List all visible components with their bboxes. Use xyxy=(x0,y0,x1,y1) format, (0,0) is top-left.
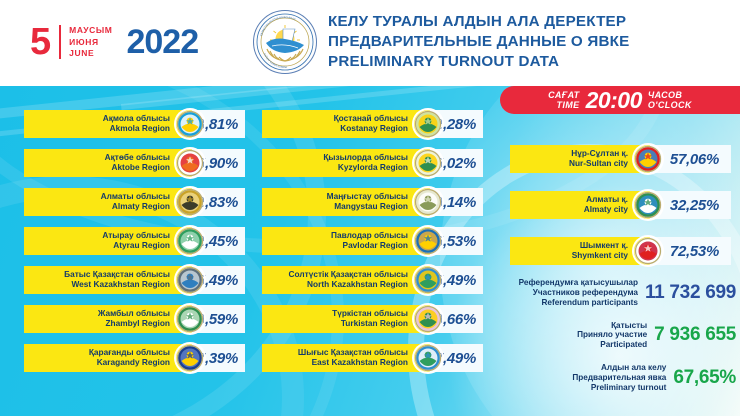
region-name-en: Atyrau Region xyxy=(113,241,170,251)
page-title-ru: ПРЕДВАРИТЕЛЬНЫЕ ДАННЫЕ О ЯВКЕ xyxy=(328,32,629,52)
region-row[interactable]: 72,53%Шымкент қ.Shymkent city xyxy=(510,237,731,265)
summary-row: Референдумға қатысушыларУчастников рефер… xyxy=(500,278,736,308)
region-row[interactable]: 75,02%Қызылорда облысыKyzylorda Region xyxy=(262,149,483,177)
region-name-en: East Kazakhstan Region xyxy=(312,358,408,368)
page-title-en: PRELIMINARY TURNOUT DATA xyxy=(328,52,629,72)
region-name: Маңғыстау облысыMangystau Region xyxy=(262,188,408,216)
summary-label-kk: Алдын ала келу xyxy=(601,363,666,373)
region-name: Батыс Қазақстан облысыWest Kazakhstan Re… xyxy=(24,266,170,294)
region-name-en: Almaty city xyxy=(584,205,628,215)
date-divider xyxy=(59,25,61,59)
region-name-en: Turkistan Region xyxy=(341,319,408,329)
shymkent-city-emblem-icon xyxy=(634,237,662,265)
summary-statistics: Референдумға қатысушыларУчастников рефер… xyxy=(500,278,736,406)
region-row[interactable]: 62,45%Атырау облысыAtyrau Region xyxy=(24,227,245,255)
summary-labels: ҚатыстыПриняло участиеParticipated xyxy=(577,321,647,351)
region-name: Қызылорда облысыKyzylorda Region xyxy=(262,149,408,177)
summary-label-ru: Предварительная явка xyxy=(572,373,666,383)
region-name: Алматы облысыAlmaty Region xyxy=(24,188,170,216)
karagandy-region-emblem-icon xyxy=(176,344,204,372)
region-row[interactable]: 72,83%Алматы облысыAlmaty Region xyxy=(24,188,245,216)
region-name: Қарағанды облысыKaragandy Region xyxy=(24,344,170,372)
time-value: 20:00 xyxy=(586,87,642,114)
north-kazakhstan-region-emblem-icon xyxy=(414,266,442,294)
row-value-panel: 32,25% xyxy=(650,191,731,219)
region-name: Нұр-Сұлтан қ.Nur-Sultan city xyxy=(510,145,628,173)
region-name: Солтүстік Қазақстан облысыNorth Kazakhst… xyxy=(262,266,408,294)
region-row[interactable]: 32,25%Алматы қ.Almaty city xyxy=(510,191,731,219)
region-name-en: North Kazakhstan Region xyxy=(307,280,408,290)
region-name-en: Shymkent city xyxy=(572,251,628,261)
region-row[interactable]: 75,49%Солтүстік Қазақстан облысыNorth Ka… xyxy=(262,266,483,294)
summary-label-ru: Участников референдума xyxy=(533,288,638,298)
cities-column-right: 57,06%Нұр-Сұлтан қ.Nur-Sultan city32,25%… xyxy=(510,145,731,283)
summary-labels: Референдумға қатысушыларУчастников рефер… xyxy=(519,278,638,308)
summary-label-en: Preliminary turnout xyxy=(591,383,667,393)
summary-label-ru: Приняло участие xyxy=(577,330,647,340)
row-value-panel: 72,53% xyxy=(650,237,731,265)
west-kazakhstan-region-emblem-icon xyxy=(176,266,204,294)
akmola-region-emblem-icon xyxy=(176,110,204,138)
date-month-en: JUNE xyxy=(69,48,112,59)
time-label-kk: САҒАТ xyxy=(548,90,579,100)
header-bar: 5 МАУСЫМ ИЮНЯ JUNE 2022 ҚАЗАҚСТАН РЕСПУБ… xyxy=(0,0,740,86)
page-title: КЕЛУ ТУРАЛЫ АЛДЫН АЛА ДЕРЕКТЕР ПРЕДВАРИТ… xyxy=(328,12,629,72)
date-year: 2022 xyxy=(126,25,198,59)
region-row[interactable]: 65,49%Батыс Қазақстан облысыWest Kazakhs… xyxy=(24,266,245,294)
region-row[interactable]: 75,53%Павлодар облысыPavlodar Region xyxy=(262,227,483,255)
summary-labels: Алдын ала келуПредварительная явкаPrelim… xyxy=(572,363,666,393)
regions-column-left: 73,81%Ақмола облысыAkmola Region55,90%Ақ… xyxy=(24,110,245,383)
time-label-en: TIME xyxy=(556,100,579,110)
page-title-kk: КЕЛУ ТУРАЛЫ АЛДЫН АЛА ДЕРЕКТЕР xyxy=(328,12,629,32)
time-suffix-en: O'CLOCK xyxy=(648,100,692,110)
summary-row: ҚатыстыПриняло участиеParticipated7 936 … xyxy=(500,321,736,351)
summary-value: 67,65% xyxy=(673,367,736,389)
turnout-percentage: 57,06% xyxy=(670,151,719,168)
region-name: Қостанай облысыKostanay Region xyxy=(262,110,408,138)
almaty-region-emblem-icon xyxy=(176,188,204,216)
time-banner-right-labels: ЧАСОВ O'CLOCK xyxy=(648,90,692,111)
summary-row: Алдын ала келуПредварительная явкаPrelim… xyxy=(500,363,736,393)
region-name: Ақмола облысыAkmola Region xyxy=(24,110,170,138)
region-row[interactable]: 72,28%Қостанай облысыKostanay Region xyxy=(262,110,483,138)
region-name: Алматы қ.Almaty city xyxy=(510,191,628,219)
summary-value: 7 936 655 xyxy=(654,324,736,346)
atyrau-region-emblem-icon xyxy=(176,227,204,255)
region-name: Павлодар облысыPavlodar Region xyxy=(262,227,408,255)
almaty-city-emblem-icon xyxy=(634,191,662,219)
kostanay-region-emblem-icon xyxy=(414,110,442,138)
date-badge: 5 МАУСЫМ ИЮНЯ JUNE 2022 xyxy=(30,20,198,64)
region-row[interactable]: 77,49%Шығыс Қазақстан облысыEast Kazakhs… xyxy=(262,344,483,372)
pavlodar-region-emblem-icon xyxy=(414,227,442,255)
summary-label-en: Referendum participants xyxy=(542,298,638,308)
region-name: Шығыс Қазақстан облысыEast Kazakhstan Re… xyxy=(262,344,408,372)
region-name-en: Mangystau Region xyxy=(334,202,408,212)
region-name-en: Karagandy Region xyxy=(97,358,170,368)
turnout-percentage: 32,25% xyxy=(670,197,719,214)
summary-label-kk: Қатысты xyxy=(611,321,647,331)
summary-value: 11 732 699 xyxy=(645,282,736,304)
nur-sultan-city-emblem-icon xyxy=(634,145,662,173)
region-name-en: Nur-Sultan city xyxy=(569,159,628,169)
time-banner-left-labels: САҒАТ TIME xyxy=(548,90,579,111)
turnout-percentage: 72,53% xyxy=(670,243,719,260)
aktobe-region-emblem-icon xyxy=(176,149,204,177)
poster-root: 5 МАУСЫМ ИЮНЯ JUNE 2022 ҚАЗАҚСТАН РЕСПУБ… xyxy=(0,0,740,416)
date-month-ru: ИЮНЯ xyxy=(69,37,112,48)
region-name-en: Kyzylorda Region xyxy=(338,163,408,173)
content-stage: САҒАТ TIME 20:00 ЧАСОВ O'CLOCK 73,81%Ақм… xyxy=(0,86,740,416)
date-day: 5 xyxy=(30,23,50,61)
region-row[interactable]: 57,06%Нұр-Сұлтан қ.Nur-Sultan city xyxy=(510,145,731,173)
region-name-en: Almaty Region xyxy=(112,202,170,212)
region-name-en: Akmola Region xyxy=(110,124,170,134)
turkistan-region-emblem-icon xyxy=(414,305,442,333)
region-name: Жамбыл облысыZhambyl Region xyxy=(24,305,170,333)
summary-label-en: Participated xyxy=(600,340,647,350)
region-name-en: Aktobe Region xyxy=(111,163,170,173)
row-value-panel: 57,06% xyxy=(650,145,731,173)
kyzylorda-region-emblem-icon xyxy=(414,149,442,177)
summary-label-kk: Референдумға қатысушылар xyxy=(519,278,638,288)
regions-column-middle: 72,28%Қостанай облысыKostanay Region75,0… xyxy=(262,110,483,383)
region-row[interactable]: 69,59%Жамбыл облысыZhambyl Region xyxy=(24,305,245,333)
date-month-labels: МАУСЫМ ИЮНЯ JUNE xyxy=(69,25,112,59)
mangystau-region-emblem-icon xyxy=(414,188,442,216)
region-row[interactable]: 55,90%Ақтөбе облысыAktobe Region xyxy=(24,149,245,177)
region-row[interactable]: 80,66%Түркістан облысыTurkistan Region xyxy=(262,305,483,333)
election-commission-emblem-icon: ҚАЗАҚСТАН РЕСПУБЛИКАСЫНЫҢ САЙЛАУ КОМИССИ… xyxy=(252,9,318,75)
region-name: Шымкент қ.Shymkent city xyxy=(510,237,628,265)
east-kazakhstan-region-emblem-icon xyxy=(414,344,442,372)
region-name: Ақтөбе облысыAktobe Region xyxy=(24,149,170,177)
region-name: Атырау облысыAtyrau Region xyxy=(24,227,170,255)
region-row[interactable]: 77,39%Қарағанды облысыKaragandy Region xyxy=(24,344,245,372)
region-row[interactable]: 59,14%Маңғыстау облысыMangystau Region xyxy=(262,188,483,216)
region-name-en: Kostanay Region xyxy=(340,124,408,134)
date-month-kk: МАУСЫМ xyxy=(69,25,112,36)
region-name: Түркістан облысыTurkistan Region xyxy=(262,305,408,333)
region-row[interactable]: 73,81%Ақмола облысыAkmola Region xyxy=(24,110,245,138)
region-name-en: West Kazakhstan Region xyxy=(71,280,170,290)
region-name-en: Zhambyl Region xyxy=(105,319,170,329)
region-name-en: Pavlodar Region xyxy=(343,241,408,251)
zhambyl-region-emblem-icon xyxy=(176,305,204,333)
time-suffix-ru: ЧАСОВ xyxy=(648,90,682,100)
time-banner: САҒАТ TIME 20:00 ЧАСОВ O'CLOCK xyxy=(500,86,740,114)
